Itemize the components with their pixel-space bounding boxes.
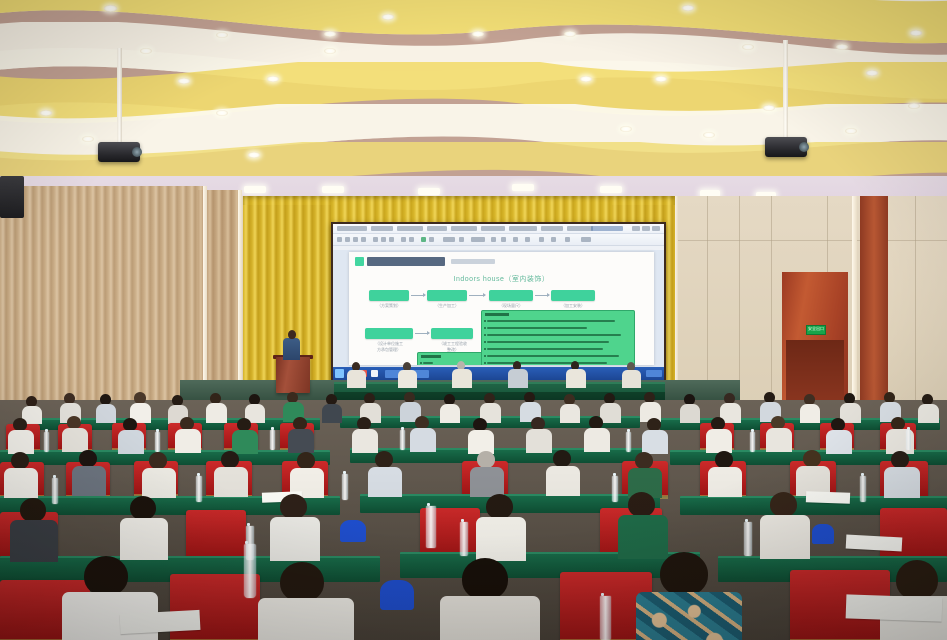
flow-node-caption: （现场量尺） bbox=[485, 303, 537, 309]
downlight bbox=[908, 103, 920, 109]
downlight bbox=[382, 14, 394, 20]
downlight bbox=[324, 48, 336, 54]
wall-trim-strip bbox=[203, 186, 207, 408]
exit-sign-icon: 安全出口 bbox=[806, 325, 826, 335]
app-menubar[interactable] bbox=[333, 224, 664, 234]
water-bottle bbox=[460, 522, 468, 556]
water-bottle bbox=[270, 430, 275, 450]
flow-node bbox=[551, 290, 595, 301]
flow-node bbox=[369, 290, 409, 301]
panel-light bbox=[322, 186, 344, 193]
downlight bbox=[248, 152, 260, 158]
water-bottle bbox=[44, 432, 49, 452]
downlight bbox=[620, 126, 632, 132]
downlight bbox=[845, 128, 857, 134]
flow-node-caption: （设计单位施工方承包管理） bbox=[359, 341, 419, 353]
exit-sign-label: 安全出口 bbox=[807, 326, 825, 332]
start-button-icon[interactable] bbox=[335, 369, 344, 378]
downlight bbox=[40, 110, 52, 116]
downlight bbox=[655, 76, 667, 82]
wall-trim-strip bbox=[852, 196, 857, 408]
downlight bbox=[703, 132, 715, 138]
flow-arrow bbox=[469, 295, 485, 296]
water-bottle bbox=[342, 474, 348, 500]
document-area: Indoors house（室内装饰） （方案策划） （生产加工） （现场量尺）… bbox=[333, 250, 664, 367]
standards-box-title bbox=[485, 313, 509, 316]
downlight bbox=[682, 5, 694, 11]
taskbar-icon[interactable] bbox=[371, 370, 378, 377]
tote-bag bbox=[812, 524, 834, 544]
slide-title-text bbox=[367, 257, 445, 266]
downlight bbox=[742, 44, 754, 50]
flow-node bbox=[489, 290, 533, 301]
handout-paper-foreground bbox=[846, 594, 943, 621]
tote-bag bbox=[340, 520, 366, 542]
flow-node bbox=[431, 328, 473, 339]
projected-image: Indoors house（室内装饰） （方案策划） （生产加工） （现场量尺）… bbox=[333, 224, 664, 380]
podium[interactable] bbox=[276, 357, 310, 393]
flow-node-caption: （方案策划） bbox=[365, 303, 413, 309]
water-bottle-foreground bbox=[426, 506, 436, 548]
projector-mount-rod bbox=[783, 40, 788, 138]
slide-title-row bbox=[355, 257, 648, 266]
slide-bullet-icon bbox=[355, 257, 364, 266]
downlight bbox=[580, 76, 592, 82]
downlight bbox=[104, 5, 117, 12]
flow-arrow bbox=[411, 295, 425, 296]
downlight bbox=[324, 31, 336, 37]
water-bottle bbox=[155, 432, 160, 452]
water-bottle bbox=[744, 522, 752, 556]
water-bottle bbox=[196, 476, 202, 502]
handout-paper bbox=[806, 491, 850, 504]
wood-column-right bbox=[860, 196, 888, 408]
left-wall-curtain bbox=[0, 186, 205, 411]
downlight bbox=[178, 78, 190, 84]
panel-light bbox=[600, 186, 622, 193]
flow-node bbox=[365, 328, 413, 339]
projection-screen: Indoors house（室内装饰） （方案策划） （生产加工） （现场量尺）… bbox=[331, 222, 666, 382]
presenter-body bbox=[283, 338, 300, 360]
downlight bbox=[216, 110, 228, 116]
projector-lens bbox=[799, 142, 809, 152]
water-bottle bbox=[860, 476, 866, 502]
downlight bbox=[140, 48, 152, 54]
panel-light bbox=[418, 188, 440, 195]
handout-paper bbox=[846, 535, 903, 552]
flow-node-caption: （加工安装） bbox=[547, 303, 599, 309]
water-bottle-foreground bbox=[244, 544, 256, 598]
projector-lens bbox=[132, 147, 142, 157]
water-bottle bbox=[52, 478, 58, 504]
tote-bag-foreground bbox=[380, 580, 414, 610]
flow-node bbox=[427, 290, 467, 301]
flow-arrow bbox=[415, 333, 429, 334]
flow-node-caption: （生产加工） bbox=[423, 303, 471, 309]
slide-subtitle-text bbox=[451, 259, 495, 264]
downlight bbox=[82, 136, 94, 142]
presenter-head bbox=[288, 330, 296, 339]
exit-door-opening[interactable] bbox=[786, 340, 844, 408]
downlight bbox=[564, 31, 576, 37]
audience-chair[interactable] bbox=[880, 508, 947, 560]
panel-light bbox=[244, 186, 266, 193]
wall-loudspeaker bbox=[0, 176, 24, 218]
downlight bbox=[763, 105, 775, 111]
downlight bbox=[267, 76, 279, 82]
water-bottle bbox=[626, 432, 631, 452]
downlight bbox=[866, 70, 878, 76]
downlight bbox=[836, 44, 848, 50]
water-bottle bbox=[906, 430, 911, 450]
conference-hall-scene: 安全出口 bbox=[0, 0, 947, 640]
app-toolbar[interactable] bbox=[333, 234, 664, 246]
slide-page: Indoors house（室内装饰） （方案策划） （生产加工） （现场量尺）… bbox=[349, 252, 654, 365]
projector-mount-rod bbox=[117, 48, 122, 148]
wavy-ceiling bbox=[0, 0, 947, 205]
slide-heading: Indoors house（室内装饰） bbox=[349, 274, 654, 284]
os-taskbar[interactable] bbox=[333, 367, 664, 380]
downlight bbox=[472, 31, 484, 37]
flow-arrow bbox=[535, 295, 549, 296]
taskbar-clock[interactable] bbox=[646, 370, 662, 377]
slide-standards-box bbox=[481, 310, 635, 365]
water-bottle-foreground bbox=[600, 596, 611, 640]
wall-trim-strip bbox=[238, 190, 242, 408]
downlight bbox=[216, 32, 228, 38]
handout-paper-foreground bbox=[120, 610, 201, 634]
audience-chair[interactable] bbox=[186, 510, 246, 558]
downlight bbox=[910, 30, 922, 36]
water-bottle bbox=[400, 430, 405, 450]
water-bottle bbox=[612, 476, 618, 502]
panel-light bbox=[512, 184, 534, 191]
water-bottle bbox=[750, 432, 755, 452]
